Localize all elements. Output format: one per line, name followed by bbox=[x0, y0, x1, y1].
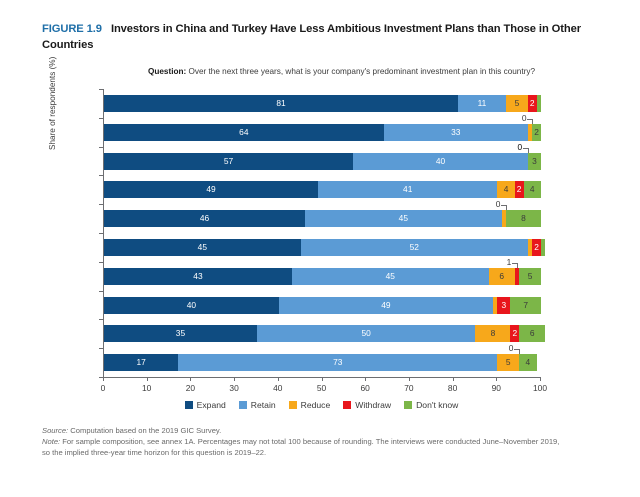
bar-segment bbox=[497, 297, 510, 314]
bar-row: 4941424 bbox=[104, 181, 541, 198]
legend-label: Retain bbox=[251, 400, 276, 410]
legend-item[interactable]: Withdraw bbox=[343, 400, 391, 410]
bar-row: 404937 bbox=[104, 297, 541, 314]
callout-leader-vertical bbox=[528, 148, 529, 153]
legend-swatch bbox=[343, 401, 351, 409]
bar-segment bbox=[178, 354, 497, 371]
x-axis-tick-label: 100 bbox=[533, 383, 547, 393]
legend-label: Expand bbox=[197, 400, 226, 410]
figure-number: FIGURE 1.9 bbox=[42, 23, 102, 35]
callout-value: 0 bbox=[509, 343, 514, 353]
callout-leader-vertical bbox=[532, 119, 533, 124]
y-axis-tick bbox=[99, 147, 103, 148]
bar-row: 45522 bbox=[104, 239, 541, 256]
bar-segment bbox=[301, 239, 528, 256]
bar-segment bbox=[104, 95, 458, 112]
x-axis-tick bbox=[453, 377, 454, 381]
bar-segment bbox=[257, 325, 476, 342]
x-axis-tick-label: 30 bbox=[229, 383, 238, 393]
x-axis-tick bbox=[190, 377, 191, 381]
x-axis-tick-label: 0 bbox=[101, 383, 106, 393]
figure-page: FIGURE 1.9Investors in China and Turkey … bbox=[0, 0, 640, 497]
bar-segment bbox=[104, 124, 384, 141]
bar-segment bbox=[519, 354, 536, 371]
bar-segment bbox=[292, 268, 489, 285]
x-axis-tick-label: 80 bbox=[448, 383, 457, 393]
source-label: Source: bbox=[42, 426, 68, 435]
bar-row: 3550826 bbox=[104, 325, 541, 342]
page-title: FIGURE 1.9Investors in China and Turkey … bbox=[42, 22, 587, 53]
x-axis-tick bbox=[322, 377, 323, 381]
x-axis-tick-label: 50 bbox=[317, 383, 326, 393]
legend-swatch bbox=[185, 401, 193, 409]
x-axis-tick-label: 60 bbox=[361, 383, 370, 393]
bar-segment bbox=[104, 354, 178, 371]
bar-segment bbox=[279, 297, 493, 314]
note-text: For sample composition, see annex 1A. Pe… bbox=[60, 437, 559, 446]
legend-swatch bbox=[404, 401, 412, 409]
y-axis-tick bbox=[99, 348, 103, 349]
bar-segment bbox=[515, 181, 524, 198]
callout-leader-vertical bbox=[517, 263, 518, 268]
bar-segment bbox=[537, 95, 541, 112]
legend-label: Withdraw bbox=[355, 400, 391, 410]
legend-item[interactable]: Retain bbox=[239, 400, 276, 410]
y-axis-tick bbox=[99, 89, 103, 90]
question-line: Question: Over the next three years, wha… bbox=[148, 66, 608, 77]
callout-value: 0 bbox=[518, 142, 523, 152]
x-axis-tick bbox=[540, 377, 541, 381]
callout-value: 0 bbox=[522, 113, 527, 123]
bar-segment bbox=[318, 181, 497, 198]
x-axis-tick bbox=[278, 377, 279, 381]
bar-segment bbox=[104, 153, 353, 170]
bar-segment bbox=[104, 239, 301, 256]
callout-leader-vertical bbox=[506, 205, 507, 210]
bar-row: 177354 bbox=[104, 354, 541, 371]
question-label: Question: bbox=[148, 67, 186, 76]
bar-row: 64332 bbox=[104, 124, 541, 141]
bar-segment bbox=[506, 95, 528, 112]
y-axis-tick bbox=[99, 233, 103, 234]
bar-segment bbox=[528, 153, 541, 170]
bar-segment bbox=[524, 181, 541, 198]
y-axis-title: Share of respondents (%) bbox=[48, 57, 57, 150]
bar-segment bbox=[510, 325, 519, 342]
bar-segment bbox=[497, 354, 519, 371]
legend-item[interactable]: Don't know bbox=[404, 400, 458, 410]
legend-item[interactable]: Reduce bbox=[289, 400, 331, 410]
bar-row: 57403 bbox=[104, 153, 541, 170]
bar-segment bbox=[497, 181, 514, 198]
bar-segment bbox=[104, 210, 305, 227]
bar-segment bbox=[541, 239, 545, 256]
bar-segment bbox=[475, 325, 510, 342]
bar-row: 46458 bbox=[104, 210, 541, 227]
bar-segment bbox=[458, 95, 506, 112]
legend-swatch bbox=[289, 401, 297, 409]
bar-segment bbox=[104, 268, 292, 285]
x-axis-tick bbox=[409, 377, 410, 381]
y-axis-tick bbox=[99, 291, 103, 292]
x-axis-tick-label: 20 bbox=[186, 383, 195, 393]
bar-segment bbox=[104, 297, 279, 314]
y-axis-tick bbox=[99, 377, 103, 378]
x-axis-tick-label: 10 bbox=[142, 383, 151, 393]
source-text: Computation based on the 2019 GIC Survey… bbox=[68, 426, 221, 435]
x-axis-tick bbox=[365, 377, 366, 381]
x-axis-tick-label: 40 bbox=[273, 383, 282, 393]
bar-segment bbox=[489, 268, 515, 285]
chart-legend: ExpandRetainReduceWithdrawDon't know bbox=[103, 400, 540, 410]
bar-segment bbox=[519, 325, 545, 342]
bar-segment bbox=[104, 325, 257, 342]
legend-swatch bbox=[239, 401, 247, 409]
chart-plot-area: 0102030405060708090100 81115264332574034… bbox=[103, 89, 540, 377]
bar-segment bbox=[532, 124, 541, 141]
footnotes: Source: Computation based on the 2019 GI… bbox=[42, 425, 602, 459]
x-axis-tick bbox=[103, 377, 104, 381]
x-axis-tick-label: 90 bbox=[492, 383, 501, 393]
note-label: Note: bbox=[42, 437, 60, 446]
bar-segment bbox=[528, 95, 537, 112]
y-axis-tick bbox=[99, 262, 103, 263]
note-line-2: so the implied three-year time horizon f… bbox=[42, 447, 602, 458]
bar-segment bbox=[353, 153, 528, 170]
callout-value: 1 bbox=[507, 257, 512, 267]
bar-segment bbox=[506, 210, 541, 227]
legend-label: Don't know bbox=[416, 400, 458, 410]
x-axis-tick-label: 70 bbox=[404, 383, 413, 393]
figure-title-text: Investors in China and Turkey Have Less … bbox=[42, 23, 581, 51]
bar-row: 434565 bbox=[104, 268, 541, 285]
x-axis-tick bbox=[234, 377, 235, 381]
source-line: Source: Computation based on the 2019 GI… bbox=[42, 425, 602, 436]
legend-item[interactable]: Expand bbox=[185, 400, 226, 410]
callout-leader-vertical bbox=[519, 349, 520, 354]
question-text: Over the next three years, what is your … bbox=[186, 67, 535, 76]
bar-segment bbox=[104, 181, 318, 198]
legend-label: Reduce bbox=[301, 400, 331, 410]
bar-segment bbox=[519, 268, 541, 285]
bar-segment bbox=[510, 297, 541, 314]
y-axis-tick bbox=[99, 175, 103, 176]
x-axis-tick bbox=[147, 377, 148, 381]
y-axis-tick bbox=[99, 319, 103, 320]
bar-segment bbox=[532, 239, 541, 256]
x-axis-tick bbox=[496, 377, 497, 381]
y-axis-tick bbox=[99, 204, 103, 205]
note-line: Note: For sample composition, see annex … bbox=[42, 436, 602, 447]
callout-value: 0 bbox=[496, 199, 501, 209]
bar-segment bbox=[305, 210, 502, 227]
bar-segment bbox=[384, 124, 528, 141]
y-axis-tick bbox=[99, 118, 103, 119]
bar-row: 811152 bbox=[104, 95, 541, 112]
